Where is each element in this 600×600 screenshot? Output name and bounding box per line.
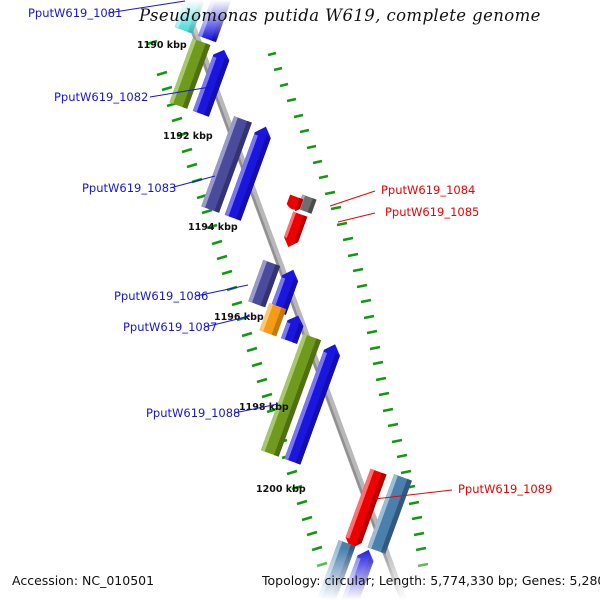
accession-text: Accession: NC_010501 [12, 573, 154, 588]
tick-label: 1192 kbp [163, 131, 213, 142]
tick-label: 1190 kbp [137, 40, 187, 51]
tick-label: 1196 kbp [214, 312, 264, 323]
genome-stats-text: Topology: circular; Length: 5,774,330 bp… [261, 573, 600, 588]
gene-label-pputw619-1081[interactable]: PputW619_1081 [28, 6, 122, 20]
gene-label-pputw619-1087[interactable]: PputW619_1087 [123, 320, 217, 334]
gene-label-pputw619-1085[interactable]: PputW619_1085 [385, 205, 479, 219]
genome-map-viewer: Pseudomonas putida W619, complete genome… [0, 0, 600, 600]
tick-label: 1198 kbp [239, 402, 289, 413]
gene-label-pputw619-1088[interactable]: PputW619_1088 [146, 406, 240, 420]
gene-label-pputw619-1089[interactable]: PputW619_1089 [458, 482, 552, 496]
gene-label-pputw619-1082[interactable]: PputW619_1082 [54, 90, 148, 104]
tick-label: 1194 kbp [188, 222, 238, 233]
gene-label-pputw619-1084[interactable]: PputW619_1084 [381, 183, 475, 197]
page-title: Pseudomonas putida W619, complete genome [138, 6, 541, 25]
gene-label-pputw619-1083[interactable]: PputW619_1083 [82, 181, 176, 195]
tick-label: 1200 kbp [256, 484, 306, 495]
gene-label-pputw619-1086[interactable]: PputW619_1086 [114, 289, 208, 303]
